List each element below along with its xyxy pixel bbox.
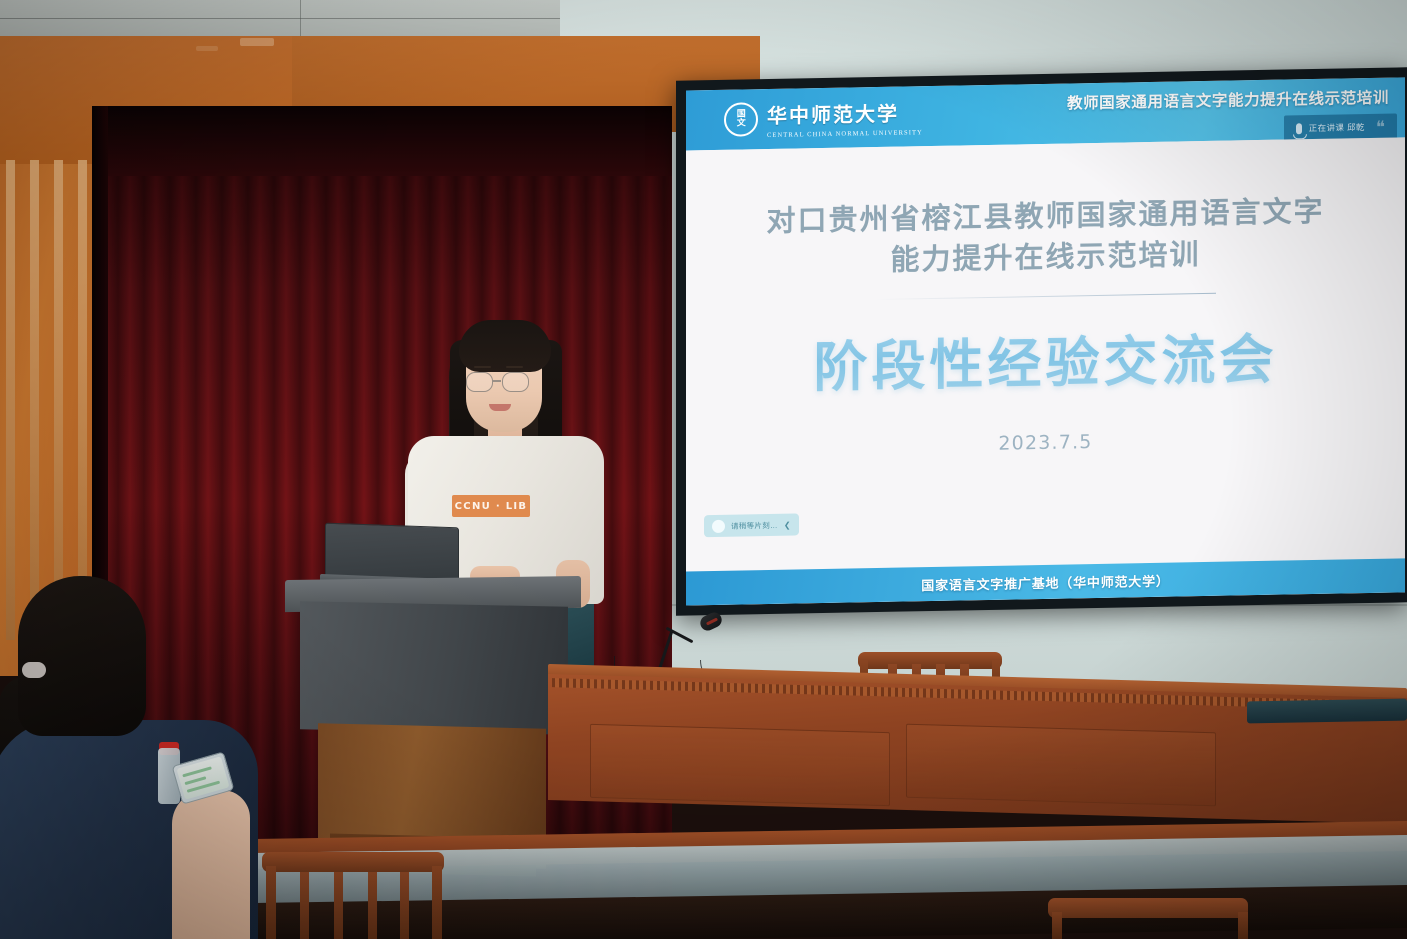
chair-slat [300,872,309,939]
phone-content-line [182,766,212,777]
chair-crest-rail [858,652,1002,669]
rostrum-panel [906,724,1216,807]
slide-date: 2023.7.5 [998,431,1092,455]
chair-post [432,866,442,939]
chair-post [1052,912,1062,939]
chair-post [266,866,276,939]
projection-screen-frame: 国 文 华中师范大学 CENTRAL CHINA NORMAL UNIVERSI… [676,67,1407,615]
signal-status-label: 教室正在录课直播 [1005,77,1063,80]
live-status-label: 直播中 [1084,77,1106,79]
wall-scuff [196,46,218,51]
presenter-mouth [489,404,511,411]
chair-slat [400,872,409,939]
slide-footer-bar: 国家语言文字推广基地（华中师范大学） [686,558,1405,605]
chair-crest-rail [262,852,444,872]
audience-hair-tie [22,662,46,678]
photo-scene: 国 文 华中师范大学 CENTRAL CHINA NORMAL UNIVERSI… [0,0,1407,939]
slide-subtitle: 对口贵州省榕江县教师国家通用语言文字 能力提升在线示范培训 [766,191,1324,284]
floating-participant-chip[interactable]: 请稍等片刻… ❮ [704,513,799,537]
program-title: 教师国家通用语言文字能力提升在线示范培训 [1067,86,1389,114]
tshirt-logo-text: CCNU · LIB [455,501,528,512]
audience-hair [18,576,146,736]
slide-content: 对口贵州省榕江县教师国家通用语言文字 能力提升在线示范培训 阶段性经验交流会 2… [686,137,1405,605]
tshirt-logo-badge: CCNU · LIB [452,495,530,517]
quote-icon: ❝ [1376,118,1385,135]
equipment-box [1247,699,1407,724]
eyeglasses-bridge [492,380,501,382]
wall-scuff [240,38,274,46]
wall-slat [78,160,87,640]
slide-main-title: 阶段性经验交流会 [814,315,1278,403]
microphone-icon [1296,123,1302,134]
current-speaker-label: 正在讲课 邱乾 [1309,121,1365,134]
wall-slat [30,160,39,640]
audience-arm [172,790,250,939]
floating-chip-label: 请稍等片刻… [731,519,778,531]
university-emblem-icon: 国 文 [724,102,758,137]
logo-name-en: CENTRAL CHINA NORMAL UNIVERSITY [767,129,923,139]
logo-name-cn: 华中师范大学 [767,97,923,129]
slide-divider [876,293,1216,300]
presenter-hair-front [459,320,551,372]
university-logo: 国 文 华中师范大学 CENTRAL CHINA NORMAL UNIVERSI… [724,97,923,140]
curtain-valance [92,106,672,176]
eyeglasses-icon [502,372,529,392]
phone-content-line [184,776,206,785]
live-status: 直播中 [1073,77,1106,79]
logo-text-stack: 华中师范大学 CENTRAL CHINA NORMAL UNIVERSITY [767,97,923,139]
rostrum-panel [590,724,890,806]
chair-slat [368,872,377,939]
chair-post [1238,912,1248,939]
chevron-left-icon: ❮ [784,520,791,529]
slide-footer-label: 国家语言文字推广基地（华中师范大学） [921,570,1169,594]
projection-screen: 国 文 华中师范大学 CENTRAL CHINA NORMAL UNIVERSI… [686,77,1405,605]
live-dot-icon [1073,77,1081,78]
smartphone-screen [176,756,229,799]
broadcast-status-pill: 教室正在录课直播 直播中 [986,77,1113,83]
emblem-char-bottom: 文 [737,119,746,128]
chair-slat [334,872,343,939]
chair-crest-rail [1048,898,1248,918]
lectern-body [300,601,568,735]
signal-bars-icon [994,77,1002,80]
signal-status: 教室正在录课直播 [994,77,1063,81]
eyeglasses-icon [466,372,493,392]
wall-slat [54,160,63,640]
wall-slat [6,160,15,640]
avatar [712,519,725,532]
